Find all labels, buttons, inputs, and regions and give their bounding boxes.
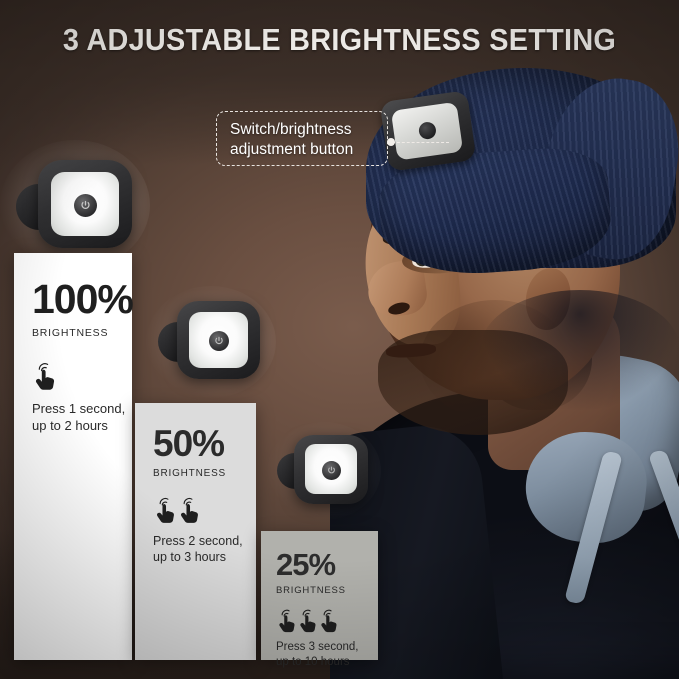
infographic-canvas: 3 ADJUSTABLE BRIGHTNESS SETTING Switch/b… (0, 0, 679, 679)
background-vignette (0, 0, 679, 679)
